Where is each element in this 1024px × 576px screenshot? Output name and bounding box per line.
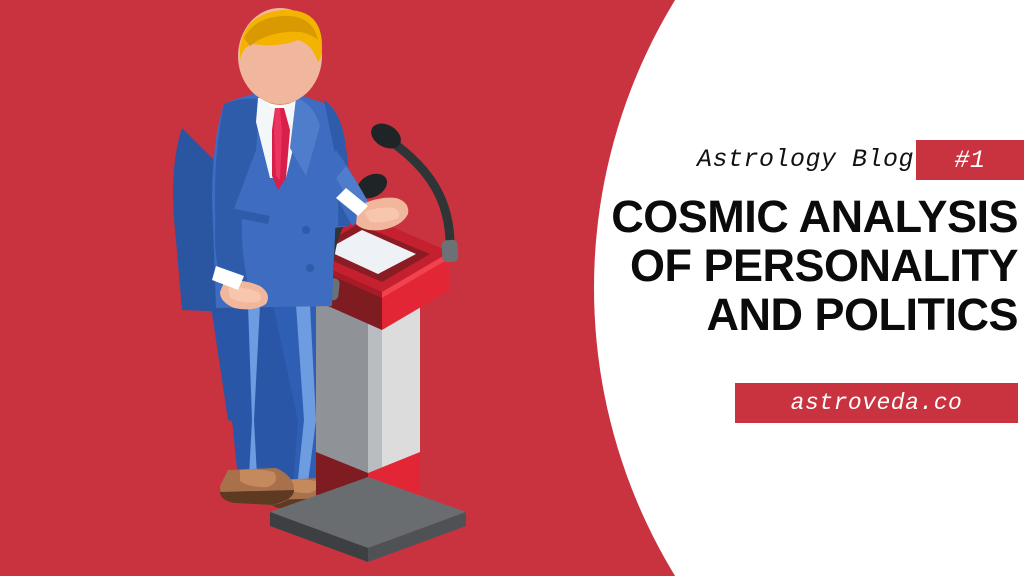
speaker-podium-svg: [120, 0, 540, 576]
speaker-podium-illustration: [120, 0, 540, 576]
website-url-label: astroveda.co: [791, 390, 963, 416]
headline-line-2: OF PERSONALITY: [528, 241, 1018, 290]
kicker-label: Astrology Blog: [697, 140, 916, 180]
website-url-band: astroveda.co: [735, 383, 1018, 423]
headline-line-1: COSMIC ANALYSIS: [528, 192, 1018, 241]
text-block: Astrology Blog #1 COSMIC ANALYSIS OF PER…: [520, 0, 1024, 576]
head-group: [238, 8, 322, 105]
page-title: COSMIC ANALYSIS OF PERSONALITY AND POLIT…: [528, 192, 1018, 339]
kicker-row: Astrology Blog #1: [697, 140, 1024, 180]
issue-number-label: #1: [954, 146, 985, 175]
headline-line-3: AND POLITICS: [528, 290, 1018, 339]
poster-canvas: Astrology Blog #1 COSMIC ANALYSIS OF PER…: [0, 0, 1024, 576]
issue-number-badge: #1: [916, 140, 1024, 180]
